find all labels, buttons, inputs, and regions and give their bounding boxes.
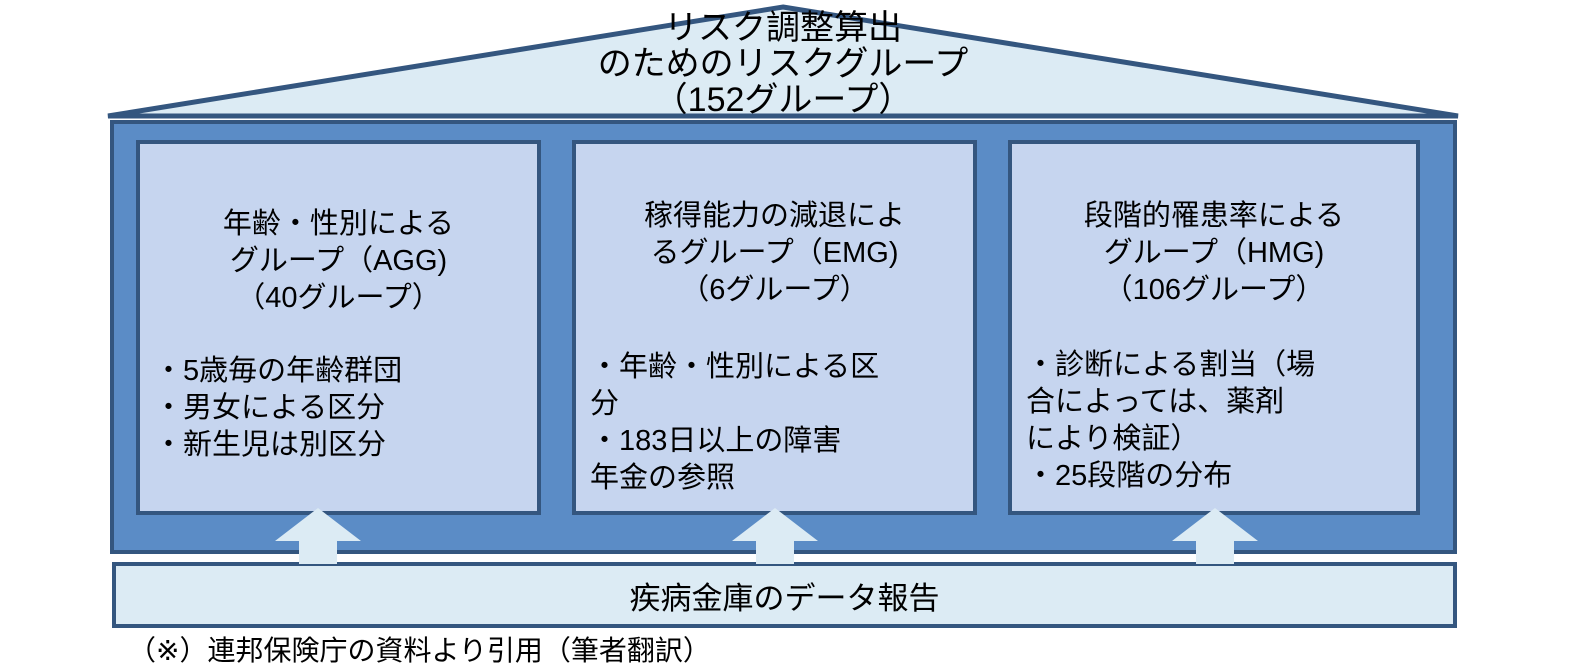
panel-hmg-title: 段階的罹患率による グループ（HMG) （106グループ） bbox=[1026, 198, 1402, 309]
panel-emg[interactable]: 稼得能力の減退によ るグループ（EMG) （6グループ） ・年齢・性別による区 … bbox=[572, 140, 977, 515]
list-item: ・診断による割当（場 合によっては、薬剤 により検証） bbox=[1026, 347, 1402, 458]
list-item: ・男女による区分 bbox=[154, 390, 523, 427]
list-item: ・183日以上の障害 年金の参照 bbox=[590, 423, 959, 497]
panel-hmg-bullets: ・診断による割当（場 合によっては、薬剤 により検証） ・25段階の分布 bbox=[1026, 347, 1402, 495]
up-arrow-icon bbox=[1172, 508, 1258, 564]
footnote: （※）連邦保険庁の資料より引用（筆者翻訳） bbox=[128, 634, 711, 668]
list-item: ・新生児は別区分 bbox=[154, 427, 523, 464]
diagram-canvas: リスク調整算出 のためのリスクグループ （152グループ） 年齢・性別による グ… bbox=[0, 0, 1575, 670]
up-arrow-icon bbox=[732, 508, 818, 564]
roof-shape: リスク調整算出 のためのリスクグループ （152グループ） bbox=[105, 4, 1461, 122]
list-item: ・5歳毎の年齢群団 bbox=[154, 353, 523, 390]
list-item: ・年齢・性別による区 分 bbox=[590, 349, 959, 423]
panel-agg-bullets: ・5歳毎の年齢群団 ・男女による区分 ・新生児は別区分 bbox=[154, 353, 523, 464]
panel-emg-title: 稼得能力の減退によ るグループ（EMG) （6グループ） bbox=[590, 198, 959, 309]
up-arrow-icon bbox=[275, 508, 361, 564]
panel-hmg[interactable]: 段階的罹患率による グループ（HMG) （106グループ） ・診断による割当（場… bbox=[1008, 140, 1420, 515]
list-item: ・25段階の分布 bbox=[1026, 458, 1402, 495]
panel-agg[interactable]: 年齢・性別による グループ（AGG) （40グループ） ・5歳毎の年齢群団 ・男… bbox=[136, 140, 541, 515]
panel-agg-title: 年齢・性別による グループ（AGG) （40グループ） bbox=[154, 206, 523, 317]
roof-title: リスク調整算出 のためのリスクグループ （152グループ） bbox=[105, 10, 1461, 118]
data-source-bar[interactable]: 疾病金庫のデータ報告 bbox=[112, 562, 1457, 628]
panel-emg-bullets: ・年齢・性別による区 分 ・183日以上の障害 年金の参照 bbox=[590, 349, 959, 497]
data-source-label: 疾病金庫のデータ報告 bbox=[630, 573, 940, 618]
